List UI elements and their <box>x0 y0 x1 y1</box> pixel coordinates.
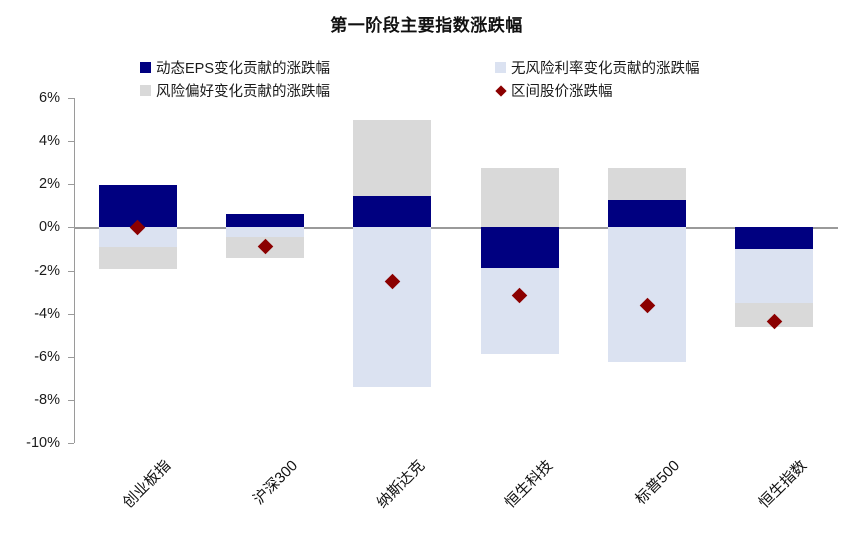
x-axis-category-label: 纳斯达克 <box>372 455 429 512</box>
y-axis-tick-label: -4% <box>8 306 60 322</box>
y-axis-tick <box>68 400 74 401</box>
y-axis-tick-label: 6% <box>8 90 60 106</box>
y-axis-tick <box>68 357 74 358</box>
bar-segment[interactable] <box>353 196 431 227</box>
bar-segment[interactable] <box>353 120 431 197</box>
bar-segment[interactable] <box>735 227 813 249</box>
zero-baseline <box>74 227 838 229</box>
bar-segment[interactable] <box>226 214 304 227</box>
y-axis-tick-label: -2% <box>8 263 60 279</box>
y-axis-tick <box>68 141 74 142</box>
y-axis-tick <box>68 184 74 185</box>
plot-area: 6%4%2%0%-2%-4%-6%-8%-10%创业板指沪深300纳斯达克恒生科… <box>0 0 853 544</box>
y-axis-tick <box>68 443 74 444</box>
bar-segment[interactable] <box>608 200 686 227</box>
y-axis-tick <box>68 314 74 315</box>
bar-segment[interactable] <box>481 227 559 268</box>
x-axis-category-label: 沪深300 <box>248 455 302 509</box>
bar-segment[interactable] <box>226 227 304 237</box>
y-axis-tick-label: 0% <box>8 219 60 235</box>
bar-segment[interactable] <box>608 168 686 200</box>
bar-segment[interactable] <box>481 168 559 227</box>
y-axis-tick-label: -10% <box>8 435 60 451</box>
bar-segment[interactable] <box>481 268 559 353</box>
x-axis-category-label: 创业板指 <box>117 455 174 512</box>
chart-container: 第一阶段主要指数涨跌幅 动态EPS变化贡献的涨跌幅 无风险利率变化贡献的涨跌幅 … <box>0 0 853 544</box>
bar-segment[interactable] <box>608 227 686 362</box>
bar-segment[interactable] <box>353 227 431 387</box>
bar-segment[interactable] <box>99 247 177 270</box>
y-axis-tick-label: -8% <box>8 392 60 408</box>
y-axis-tick <box>68 98 74 99</box>
x-axis-category-label: 恒生科技 <box>499 455 556 512</box>
y-axis-tick-label: -6% <box>8 349 60 365</box>
y-axis-tick <box>68 227 74 228</box>
y-axis-tick <box>68 271 74 272</box>
x-axis-category-label: 恒生指数 <box>754 455 811 512</box>
bar-segment[interactable] <box>735 249 813 303</box>
x-axis-category-label: 标普500 <box>630 455 684 509</box>
y-axis-tick-label: 2% <box>8 176 60 192</box>
y-axis-tick-label: 4% <box>8 133 60 149</box>
y-axis-line <box>74 98 75 443</box>
